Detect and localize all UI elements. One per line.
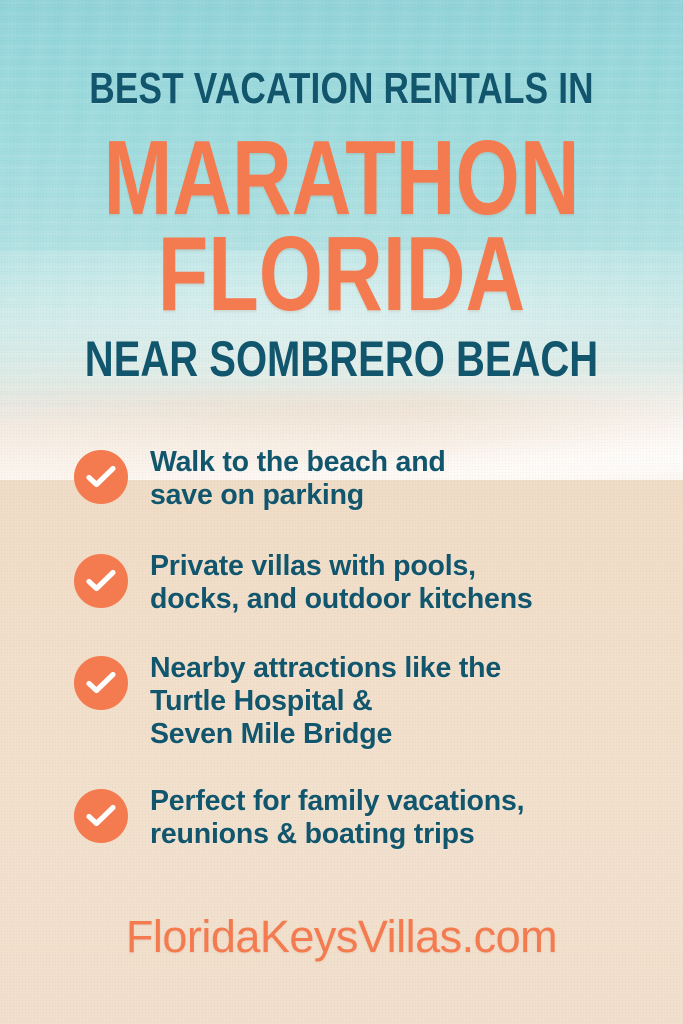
check-icon <box>74 450 128 504</box>
website-url[interactable]: FloridaKeysVillas.com <box>0 912 683 962</box>
check-icon <box>74 656 128 710</box>
subheadline-location: NEAR SOMBRERO BEACH <box>68 333 614 385</box>
list-item: Perfect for family vacations, reunions &… <box>74 785 634 851</box>
list-item: Nearby attractions like the Turtle Hospi… <box>74 652 634 751</box>
eyebrow-heading: BEST VACATION RENTALS IN <box>68 66 614 112</box>
list-item-label: Private villas with pools, docks, and ou… <box>150 550 533 616</box>
list-item-label: Walk to the beach and save on parking <box>150 446 446 512</box>
list-item: Private villas with pools, docks, and ou… <box>74 550 634 616</box>
headline-state: FLORIDA <box>75 222 608 326</box>
vacation-rental-poster: BEST VACATION RENTALS IN MARATHON FLORID… <box>0 0 683 1024</box>
list-item-label: Nearby attractions like the Turtle Hospi… <box>150 652 501 751</box>
benefits-list: Walk to the beach and save on parking Pr… <box>74 446 634 851</box>
check-icon <box>74 554 128 608</box>
poster-content: BEST VACATION RENTALS IN MARATHON FLORID… <box>0 0 683 1024</box>
list-item-label: Perfect for family vacations, reunions &… <box>150 785 524 851</box>
list-item: Walk to the beach and save on parking <box>74 446 634 512</box>
check-icon <box>74 789 128 843</box>
